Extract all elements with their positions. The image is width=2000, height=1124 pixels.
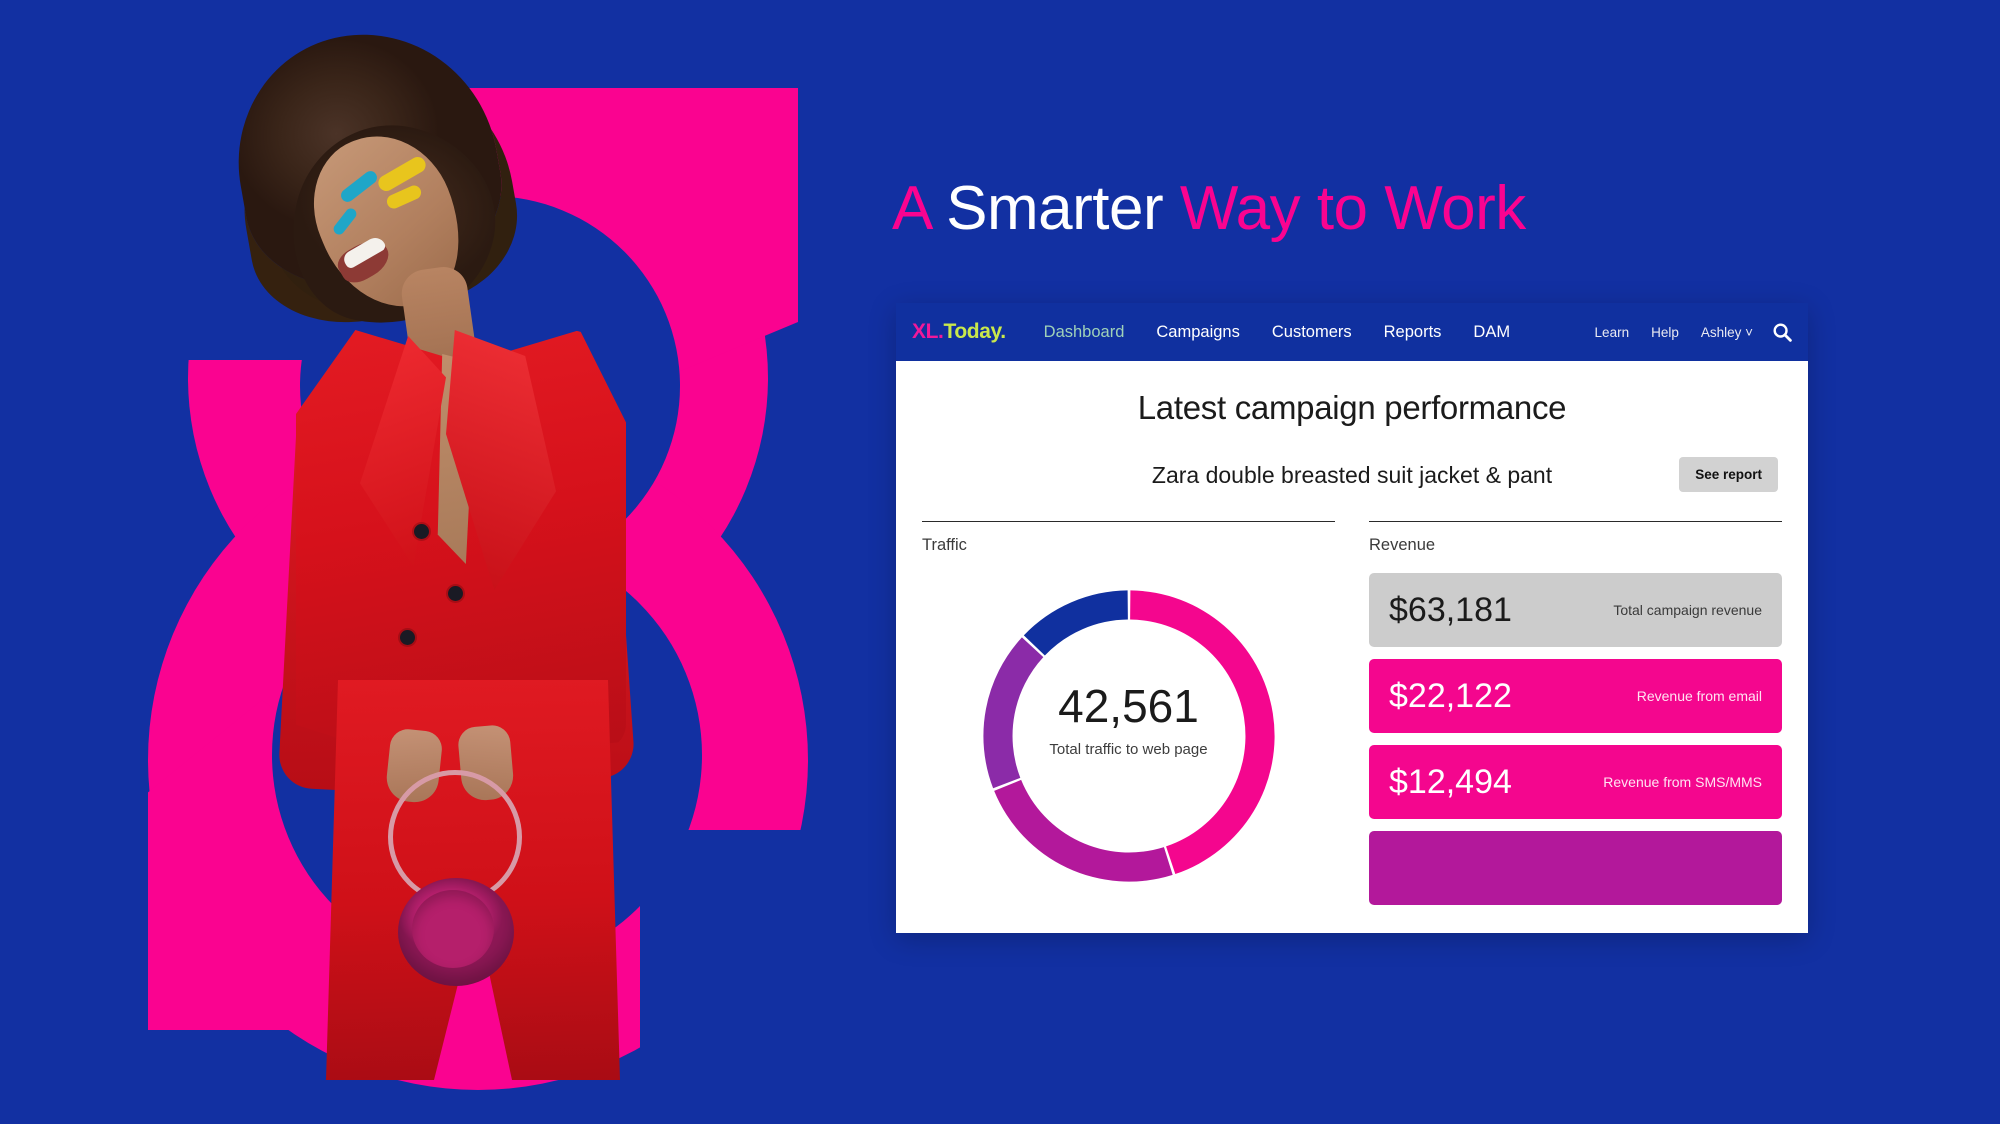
app-logo[interactable]: XL.Today. — [912, 320, 1006, 344]
revenue-card-label: Total campaign revenue — [1613, 602, 1762, 618]
nav-item-help[interactable]: Help — [1640, 325, 1690, 340]
nav-item-dashboard[interactable]: Dashboard — [1028, 323, 1141, 342]
poster-canvas: A Smarter Way to Work XL.Today. Dashboar… — [0, 0, 2000, 1124]
revenue-card[interactable]: $63,181Total campaign revenue — [1369, 573, 1782, 647]
campaign-header-row: Zara double breasted suit jacket & pant … — [922, 453, 1782, 497]
revenue-panel-label: Revenue — [1369, 522, 1782, 561]
donut-segment[interactable] — [983, 637, 1043, 788]
handbag-inner — [412, 890, 494, 968]
dashboard-window: XL.Today. Dashboard Campaigns Customers … — [896, 303, 1808, 933]
revenue-card-label: Revenue from email — [1637, 688, 1762, 704]
logo-xl-text: XL. — [912, 320, 943, 343]
nav-item-customers[interactable]: Customers — [1256, 323, 1368, 342]
revenue-panel: Revenue $63,181Total campaign revenue$22… — [1369, 521, 1782, 905]
campaign-name: Zara double breasted suit jacket & pant — [1152, 462, 1552, 489]
nav-item-dam[interactable]: DAM — [1457, 323, 1526, 342]
traffic-panel: Traffic 42,561 Total traffic to web page — [922, 521, 1335, 905]
revenue-card[interactable]: $12,494Revenue from SMS/MMS — [1369, 745, 1782, 819]
donut-segment[interactable] — [1023, 590, 1127, 655]
see-report-button[interactable]: See report — [1679, 457, 1778, 492]
page-headline: A Smarter Way to Work — [892, 176, 1952, 241]
jacket-button-2 — [448, 586, 463, 601]
donut-segment[interactable] — [1130, 590, 1274, 874]
headline-part-smarter: Smarter — [946, 174, 1180, 243]
traffic-panel-label: Traffic — [922, 522, 1335, 561]
revenue-card[interactable]: $22,122Revenue from email — [1369, 659, 1782, 733]
model-photo-illustration — [210, 30, 680, 1030]
revenue-card-label: Revenue from SMS/MMS — [1603, 774, 1762, 790]
nav-item-reports[interactable]: Reports — [1368, 323, 1458, 342]
metrics-panels: Traffic 42,561 Total traffic to web page — [922, 521, 1782, 905]
revenue-card[interactable] — [1369, 831, 1782, 905]
headline-part-a: A — [892, 174, 946, 243]
search-icon[interactable] — [1764, 322, 1794, 342]
revenue-card-list: $63,181Total campaign revenue$22,122Reve… — [1369, 573, 1782, 905]
nav-item-learn[interactable]: Learn — [1584, 325, 1641, 340]
hero-graphic — [0, 0, 880, 1124]
page-title: Latest campaign performance — [922, 361, 1782, 427]
nav-item-campaigns[interactable]: Campaigns — [1140, 323, 1255, 342]
logo-today-text: Today. — [943, 320, 1005, 343]
nav-item-user-menu[interactable]: Ashley ˅ — [1690, 325, 1764, 340]
donut-segment[interactable] — [994, 780, 1173, 882]
app-navbar: XL.Today. Dashboard Campaigns Customers … — [896, 303, 1808, 361]
revenue-card-amount: $12,494 — [1389, 763, 1512, 802]
jacket-button-1 — [414, 524, 429, 539]
dashboard-body: Latest campaign performance Zara double … — [896, 361, 1808, 905]
revenue-card-amount: $22,122 — [1389, 677, 1512, 716]
revenue-card-amount: $63,181 — [1389, 591, 1512, 630]
headline-part-way-to-work: Way to Work — [1180, 174, 1526, 243]
jacket-button-3 — [400, 630, 415, 645]
traffic-donut-chart[interactable]: 42,561 Total traffic to web page — [959, 571, 1299, 901]
